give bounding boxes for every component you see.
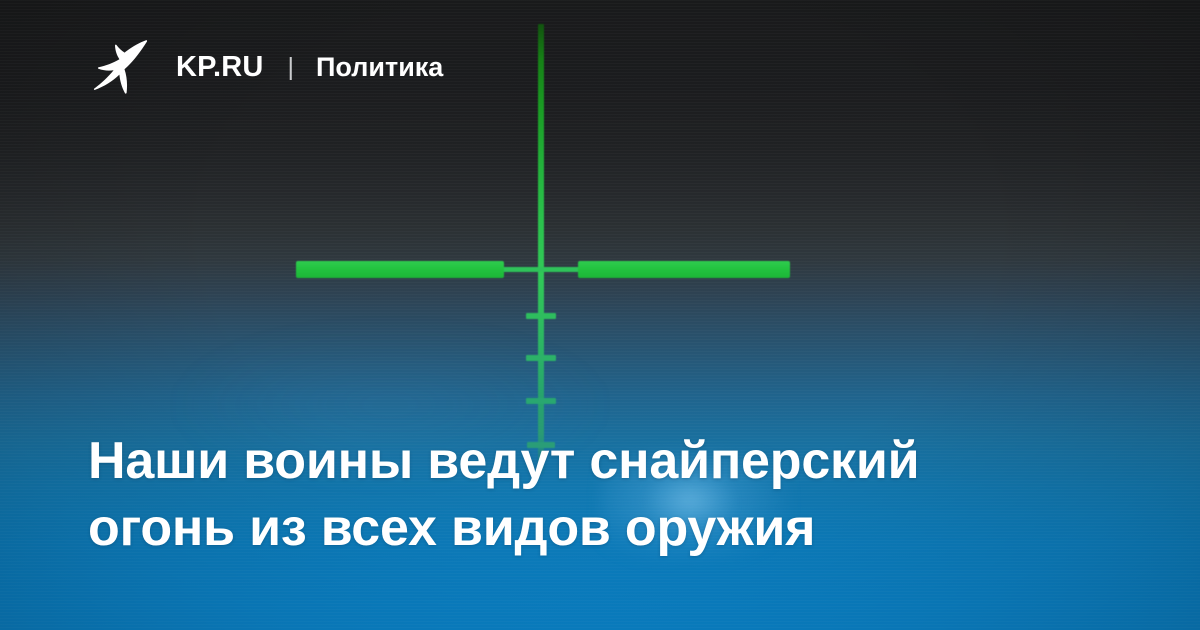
brand-separator: | (288, 55, 295, 80)
headline-line-2: огонь из всех видов оружия (88, 495, 1088, 562)
brand-header: KP.RU | Политика (88, 38, 443, 96)
brand-name[interactable]: KP.RU (176, 53, 264, 82)
section-name[interactable]: Политика (316, 54, 443, 81)
kp-swallow-logo-icon (88, 38, 150, 96)
page-title: Наши воины ведут снайперский огонь из вс… (88, 428, 1088, 562)
headline-line-1: Наши воины ведут снайперский (88, 428, 1088, 495)
share-card: KP.RU | Политика Наши воины ведут снайпе… (0, 0, 1200, 630)
